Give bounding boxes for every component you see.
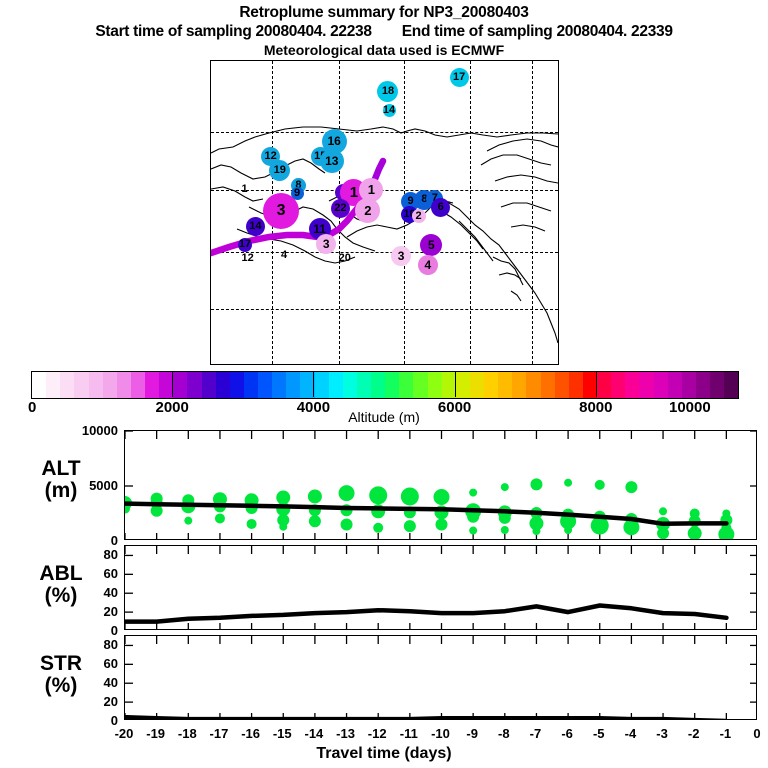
trend-line (125, 717, 726, 720)
trend-line (125, 504, 726, 524)
alt-scatter-dot (279, 523, 287, 531)
colorbar-swatch (300, 372, 314, 398)
alt-scatter-dot (151, 505, 163, 517)
colorbar-swatch (399, 372, 413, 398)
x-axis-title: Travel time (days) (0, 745, 768, 763)
alt-scatter-dot (404, 520, 416, 532)
abl-plot-panel[interactable] (124, 545, 757, 630)
alt-scatter-dot (625, 481, 637, 493)
alt-scatter-dot (659, 507, 667, 515)
alt-scatter-dot (564, 479, 572, 487)
alt-scatter-dot (467, 511, 479, 523)
map-marker: 14 (246, 217, 265, 236)
colorbar-swatch (145, 372, 159, 398)
colorbar-swatch (639, 372, 653, 398)
map-marker-label: 1 (241, 184, 247, 195)
colorbar-swatch (385, 372, 399, 398)
colorbar-swatch (696, 372, 710, 398)
colorbar-swatch (89, 372, 103, 398)
colorbar-swatch (456, 372, 470, 398)
alt-scatter-dot (341, 519, 353, 531)
alt-scatter-dot (308, 489, 322, 503)
colorbar-swatch (329, 372, 343, 398)
colorbar-swatch (611, 372, 625, 398)
colorbar-swatch (131, 372, 145, 398)
colorbar-swatch (484, 372, 498, 398)
y-tick-label: 60 (58, 566, 118, 581)
map-marker: 3 (263, 193, 299, 229)
alt-scatter-dot (718, 526, 734, 540)
colorbar-swatch (541, 372, 555, 398)
colorbar-swatch (286, 372, 300, 398)
colorbar-swatch (343, 372, 357, 398)
colorbar-swatch (74, 372, 88, 398)
colorbar-swatch (103, 372, 117, 398)
map-marker-label: 4 (281, 250, 287, 261)
alt-scatter-dot (215, 513, 225, 523)
alt-scatter-dot (373, 523, 383, 533)
y-tick-label: 20 (58, 604, 118, 619)
alt-scatter-dot (469, 489, 477, 497)
colorbar-swatch (413, 372, 427, 398)
abl-plot-svg (125, 546, 757, 630)
colorbar-swatch (512, 372, 526, 398)
colorbar-swatch (46, 372, 60, 398)
colorbar-swatch (230, 372, 244, 398)
colorbar-swatch (60, 372, 74, 398)
altitude-colorbar[interactable] (31, 371, 739, 399)
colorbar-separator (455, 371, 456, 397)
colorbar-swatch (498, 372, 512, 398)
map-marker-label: 20 (339, 253, 351, 264)
alt-scatter-dot (184, 517, 192, 525)
colorbar-swatch (32, 372, 46, 398)
colorbar-swatch (470, 372, 484, 398)
alt-scatter-dot (469, 527, 477, 535)
colorbar-swatch (159, 372, 173, 398)
colorbar-swatch (555, 372, 569, 398)
alt-scatter-dot (401, 487, 419, 505)
alt-scatter-dot (530, 478, 542, 490)
colorbar-swatch (371, 372, 385, 398)
end-time-label: End time of sampling 20080404. 22339 (402, 23, 673, 40)
colorbar-swatch (625, 372, 639, 398)
y-tick-label: 20 (58, 694, 118, 709)
alt-plot-svg (125, 431, 757, 540)
colorbar-swatch (244, 372, 258, 398)
map-marker: 4 (418, 255, 438, 275)
y-tick-label: 80 (58, 547, 118, 562)
colorbar-swatch (357, 372, 371, 398)
colorbar-separator (596, 371, 597, 397)
colorbar-swatch (272, 372, 286, 398)
y-tick-label: 40 (58, 675, 118, 690)
map-marker: 2 (412, 209, 426, 223)
colorbar-swatch (597, 372, 611, 398)
y-tick-label: 10000 (58, 423, 118, 438)
alt-plot-panel[interactable] (124, 430, 757, 540)
y-tick-label: 80 (58, 637, 118, 652)
alt-scatter-dot (434, 489, 450, 505)
colorbar-separator (313, 371, 314, 397)
map-marker: 22 (331, 199, 350, 218)
alt-scatter-dot (688, 526, 702, 540)
alt-scatter-dot (595, 480, 605, 490)
start-time-label: Start time of sampling 20080404. 22238 (95, 23, 371, 40)
alt-scatter-dot (657, 527, 669, 539)
colorbar-swatch (258, 372, 272, 398)
colorbar-swatch (682, 372, 696, 398)
colorbar-swatch (428, 372, 442, 398)
trend-line (125, 606, 726, 622)
map-marker: 17 (238, 238, 252, 252)
alt-scatter-dot (436, 519, 448, 531)
alt-scatter-dot (309, 515, 321, 527)
y-tick-label: 5000 (58, 478, 118, 493)
colorbar-swatch (526, 372, 540, 398)
str-plot-svg (125, 636, 757, 720)
y-tick-label: 60 (58, 656, 118, 671)
map-marker: 6 (431, 198, 450, 217)
colorbar-swatch (724, 372, 738, 398)
page-title-block: Retroplume summary for NP3_20080403 Star… (0, 0, 768, 59)
map-marker: 13 (320, 149, 344, 173)
page-title: Retroplume summary for NP3_20080403 (0, 0, 768, 22)
alt-scatter-dot (339, 485, 355, 501)
retroplume-map[interactable]: 1817141615131219189611222314113171242098… (210, 60, 559, 365)
y-tick-label: 40 (58, 585, 118, 600)
colorbar-swatch (315, 372, 329, 398)
y-tick-label: 0 (58, 623, 118, 638)
alt-scatter-dot (501, 526, 509, 534)
map-marker-label: 12 (241, 253, 253, 264)
x-tick-label: 0 (737, 726, 768, 741)
alt-scatter-dot (247, 519, 257, 529)
colorbar-swatch (216, 372, 230, 398)
alt-scatter-dot (369, 486, 387, 504)
alt-scatter-dot (532, 527, 540, 535)
sampling-time-line: Start time of sampling 20080404. 22238 E… (0, 22, 768, 41)
map-marker: 14 (383, 104, 396, 117)
colorbar-swatch (187, 372, 201, 398)
colorbar-swatch (654, 372, 668, 398)
map-marker: 17 (450, 68, 469, 87)
colorbar-swatch (202, 372, 216, 398)
str-plot-panel[interactable] (124, 635, 757, 720)
colorbar-swatch (117, 372, 131, 398)
colorbar-separator (172, 371, 173, 397)
alt-scatter-dot (501, 483, 509, 491)
colorbar-swatch (569, 372, 583, 398)
colorbar-swatch (710, 372, 724, 398)
met-data-label: Meteorological data used is ECMWF (0, 41, 768, 59)
colorbar-swatch (173, 372, 187, 398)
alt-scatter-dot (564, 526, 572, 534)
colorbar-swatch (668, 372, 682, 398)
map-marker: 19 (269, 160, 290, 181)
y-tick-label: 0 (58, 533, 118, 548)
